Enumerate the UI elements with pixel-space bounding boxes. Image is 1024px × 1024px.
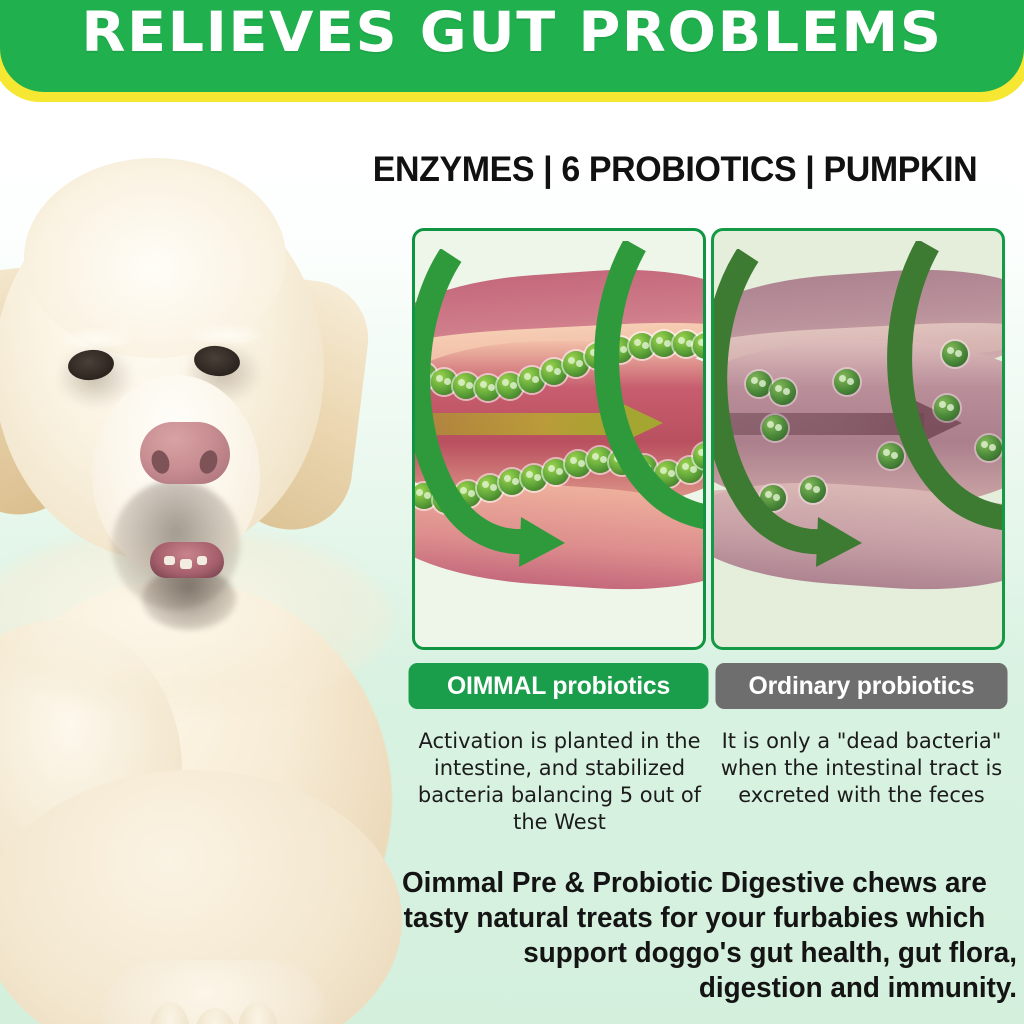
dog-tooth-2: [180, 559, 192, 569]
motility-swirl-arrow-left: [412, 249, 593, 569]
comparison-panel-oimmal: [412, 228, 706, 650]
dog-tooth-3: [197, 556, 207, 565]
comparison-panel-ordinary: [711, 228, 1005, 650]
motility-swirl-arrow-right: [886, 241, 1005, 531]
label-ordinary-probiotics: Ordinary probiotics: [715, 663, 1007, 709]
dog-brow-right: [190, 324, 262, 344]
header-banner: RELIEVES GUT PROBLEMS: [0, 0, 1024, 105]
intestine-illustration-ordinary: [714, 231, 1002, 647]
dog-tooth-1: [164, 556, 175, 565]
product-description: Oimmal Pre & Probiotic Digestive chews a…: [372, 866, 1017, 1006]
caption-ordinary: It is only a "dead bacteria" when the in…: [714, 728, 1009, 809]
product-infographic: RELIEVES GUT PROBLEMS ENZYMES | 6 PROBIO…: [0, 0, 1024, 1024]
product-description-line-4: digestion and immunity.: [372, 971, 1017, 1006]
caption-oimmal: Activation is planted in the intestine, …: [412, 728, 707, 836]
page-title: RELIEVES GUT PROBLEMS: [0, 0, 1024, 64]
motility-swirl-arrow-left: [711, 249, 890, 569]
product-description-line-3: support doggo's gut health, gut flora,: [372, 936, 1017, 971]
product-description-line-1: Oimmal Pre & Probiotic Digestive chews a…: [372, 866, 1017, 901]
dog-brow-left: [60, 328, 132, 348]
motility-swirl-arrow-right: [593, 241, 706, 531]
product-description-line-2: tasty natural treats for your furbabies …: [372, 901, 1017, 936]
label-oimmal-probiotics: OIMMAL probiotics: [409, 663, 709, 709]
intestine-illustration-healthy: [415, 231, 703, 647]
